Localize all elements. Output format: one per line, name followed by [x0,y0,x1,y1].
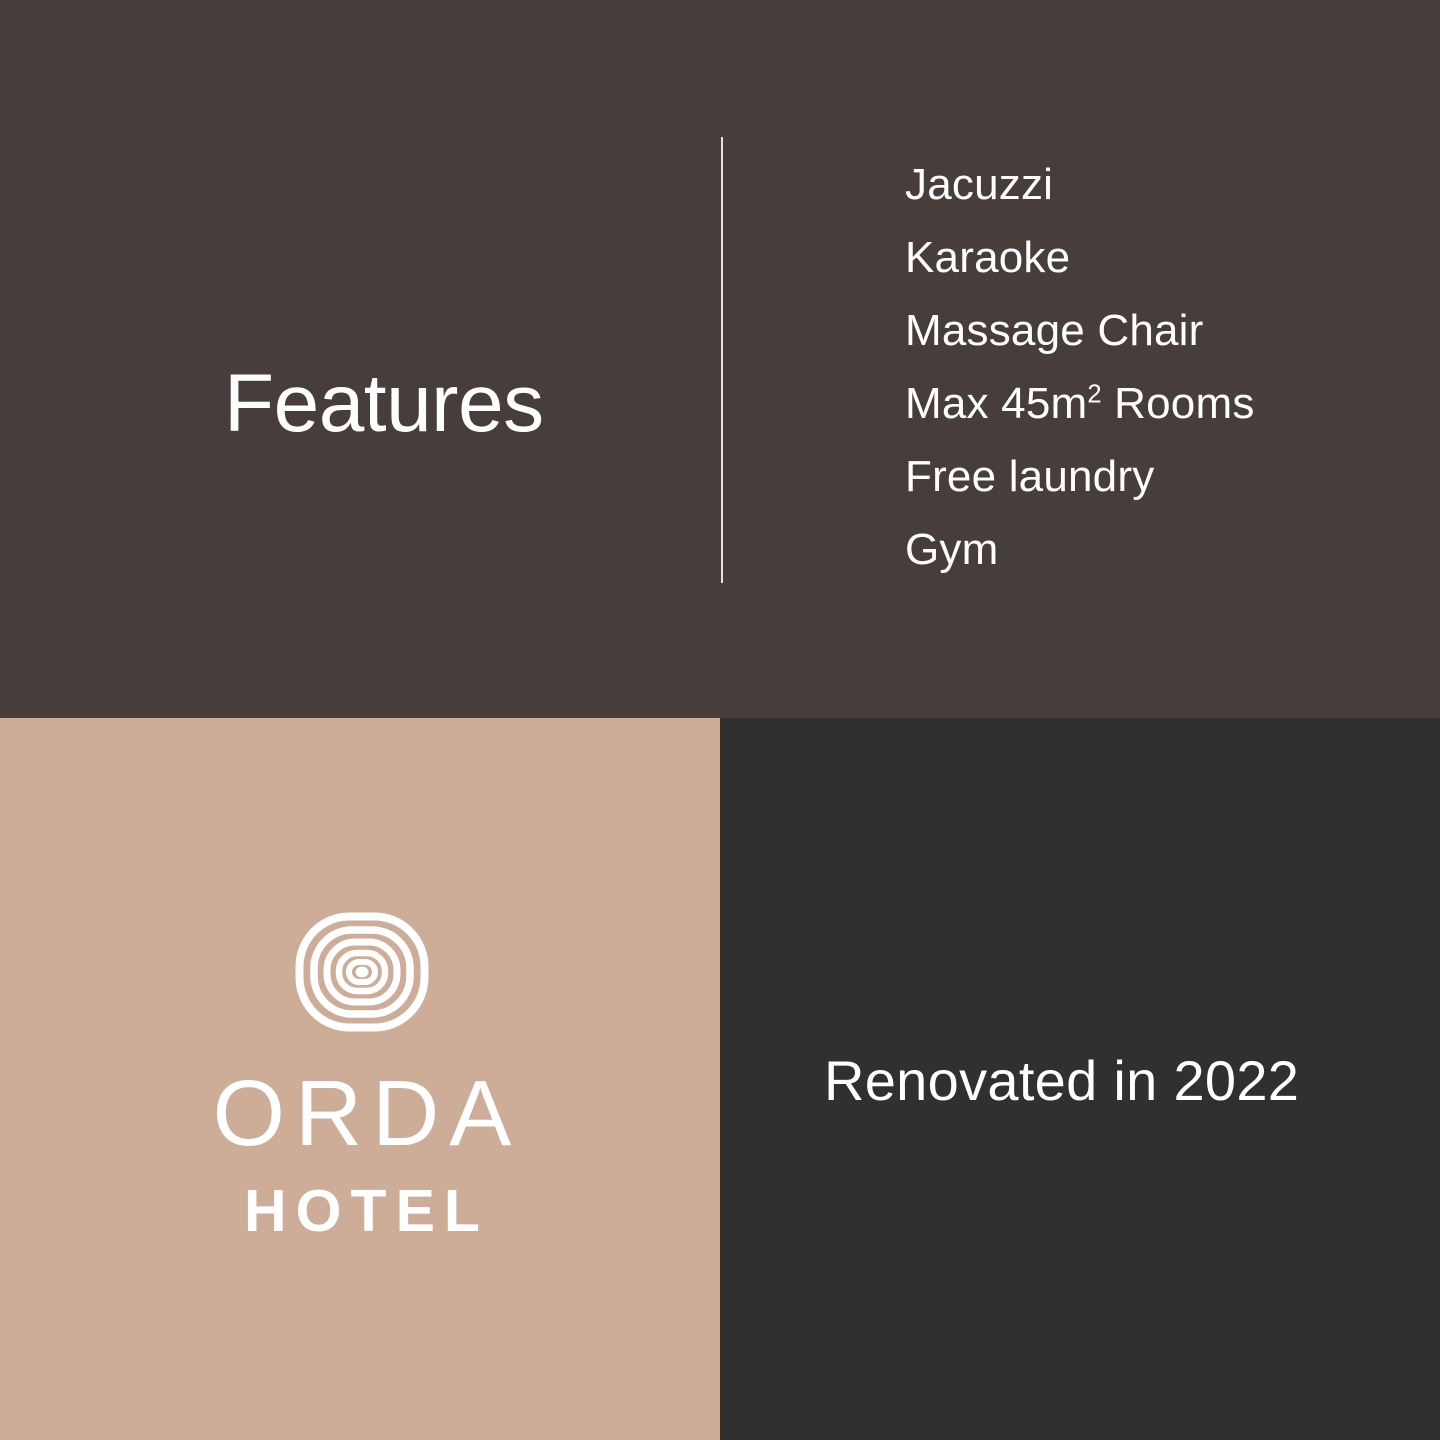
list-item: Massage Chair [905,294,1385,367]
vertical-divider [721,137,723,583]
feature-label: Max 45m [905,379,1087,428]
brand-panel: ORDA HOTEL [0,718,720,1440]
brand-subtitle: HOTEL [244,1182,489,1241]
renovation-note-text: Renovated in 2022 [824,1050,1299,1112]
renovation-note-panel: Renovated in 2022 [720,718,1440,1440]
list-item: Gym [905,513,1385,586]
feature-label: Free laundry [905,452,1154,501]
list-item: Jacuzzi [905,148,1385,221]
list-item: Free laundry [905,440,1385,513]
brand-name: ORDA [213,1067,522,1160]
feature-label-superscript: 2 [1087,380,1101,408]
feature-label: Massage Chair [905,306,1204,355]
feature-label: Jacuzzi [905,160,1053,209]
list-item: Max 45m2 Rooms [905,367,1385,440]
hotel-features-poster: Features Jacuzzi Karaoke Massage Chair M… [0,0,1440,1440]
feature-label: Karaoke [905,233,1070,282]
features-heading: Features [224,363,544,445]
feature-label-tail: Rooms [1102,379,1255,428]
features-list: Jacuzzi Karaoke Massage Chair Max 45m2 R… [905,148,1385,586]
list-item: Karaoke [905,221,1385,294]
brand-lockup: ORDA HOTEL [0,718,720,1440]
tree-rings-icon [294,911,430,1033]
feature-label: Gym [905,525,998,574]
features-panel: Features Jacuzzi Karaoke Massage Chair M… [0,0,1440,718]
